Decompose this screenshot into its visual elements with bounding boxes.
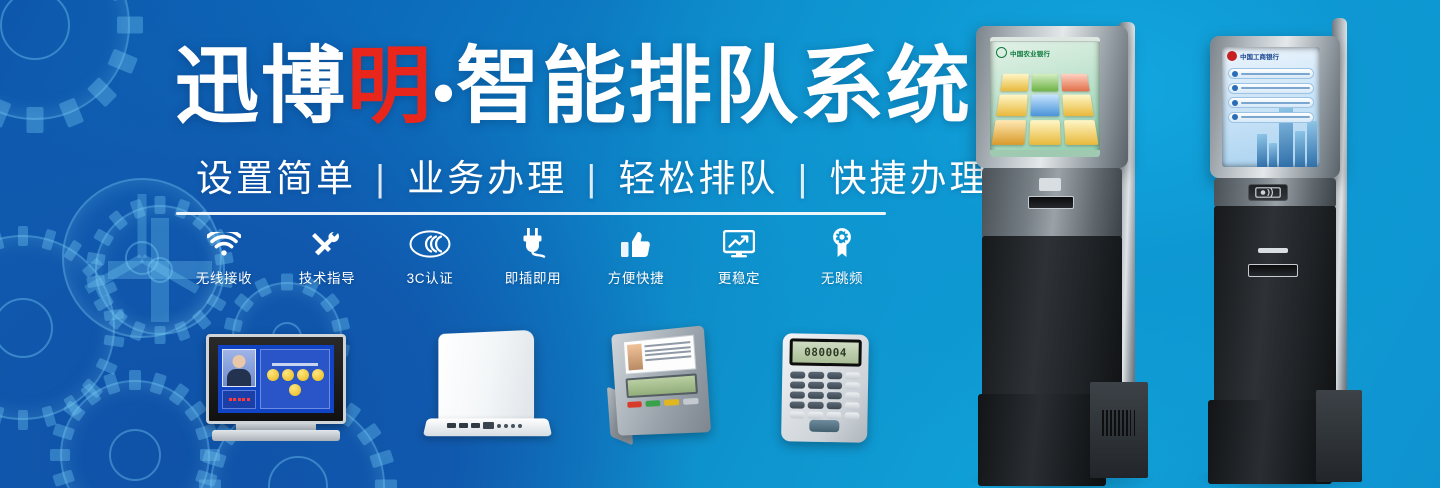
terminal-body: 080004 bbox=[781, 333, 869, 442]
bank-logo-mark bbox=[996, 47, 1007, 58]
product-evaluation-monitor bbox=[206, 334, 346, 442]
page-title: 迅博明•智能排队系统 bbox=[175, 44, 905, 128]
host-panel bbox=[438, 330, 534, 426]
subtitle-item-0: 设置简单 bbox=[196, 158, 356, 199]
evaluator-lcd-display bbox=[626, 373, 698, 398]
service-tile-grid[interactable] bbox=[990, 70, 1100, 153]
monitor-chart-icon bbox=[723, 228, 755, 258]
staff-id-card bbox=[623, 335, 696, 375]
screen-rating-panel bbox=[260, 349, 330, 409]
ccc-mark-icon bbox=[409, 228, 451, 258]
kiosk-base bbox=[1208, 400, 1332, 484]
feature-item-ccc: 3C认证 bbox=[382, 228, 478, 287]
menu-item[interactable] bbox=[1228, 112, 1314, 123]
kiosk-screen-housing: 中国工商银行 bbox=[1210, 36, 1340, 178]
bank-logo-mark bbox=[1227, 51, 1237, 61]
menu-item[interactable] bbox=[1228, 97, 1314, 108]
page-subtitle: 设置简单 | 业务办理 | 轻松排队 | 快捷办理 bbox=[196, 148, 896, 202]
terminal-lcd-display: 080004 bbox=[792, 341, 858, 363]
power-plug-icon bbox=[519, 228, 547, 258]
feature-item-plugplay: 即插即用 bbox=[485, 228, 581, 287]
screen-left-column bbox=[222, 349, 256, 409]
feature-item-wireless: 无线接收 bbox=[176, 228, 272, 287]
feature-list: 无线接收 技术指导 3C认证 bbox=[176, 228, 890, 290]
bank-logo: 中国农业银行 bbox=[990, 42, 1100, 60]
subtitle-item-3: 快捷办理 bbox=[830, 158, 990, 199]
terminal-confirm-key[interactable] bbox=[809, 420, 839, 433]
smiley-rating-icons bbox=[264, 369, 326, 396]
staff-photo bbox=[627, 344, 643, 371]
kiosk-base bbox=[978, 394, 1106, 486]
subtitle-item-1: 业务办理 bbox=[407, 158, 567, 199]
bank-logo: 中国工商银行 bbox=[1222, 47, 1320, 63]
tools-icon bbox=[312, 228, 342, 258]
promo-banner: 迅博明•智能排队系统 设置简单 | 业务办理 | 轻松排队 | 快捷办理 无线接… bbox=[0, 0, 1440, 488]
printer-icon bbox=[1039, 178, 1061, 191]
ticket-dispenser-slot[interactable] bbox=[1028, 196, 1074, 209]
card-slot[interactable] bbox=[1258, 248, 1288, 253]
staff-name-plate bbox=[222, 390, 256, 409]
feature-item-convenient: 方便快捷 bbox=[588, 228, 684, 287]
feature-item-nohop: 无跳频 bbox=[794, 228, 890, 287]
feature-label: 技术指导 bbox=[299, 267, 355, 287]
kiosk-upper-body bbox=[982, 168, 1122, 240]
gear-icon bbox=[60, 380, 210, 488]
feature-item-support: 技术指导 bbox=[279, 228, 375, 287]
staff-photo bbox=[222, 349, 256, 387]
gear-icon bbox=[0, 0, 130, 120]
title-part-1: 迅博 bbox=[175, 39, 347, 133]
kiosk-side-cabinet bbox=[1090, 382, 1148, 478]
rating-prompt bbox=[272, 363, 318, 366]
thumbs-up-icon bbox=[621, 228, 651, 258]
evaluator-button-row bbox=[627, 398, 699, 408]
menu-item[interactable] bbox=[1228, 68, 1314, 79]
feature-item-stable: 更稳定 bbox=[691, 228, 787, 287]
wifi-icon bbox=[207, 228, 241, 258]
kiosk-screen-housing: 中国农业银行 bbox=[976, 26, 1128, 168]
feature-label: 3C认证 bbox=[407, 267, 454, 287]
ticket-dispenser-slot[interactable] bbox=[1248, 264, 1298, 277]
terminal-keypad[interactable] bbox=[789, 371, 860, 419]
terminal-lcd-value: 080004 bbox=[804, 346, 847, 360]
ventilation-grille bbox=[1102, 410, 1138, 436]
section-divider bbox=[176, 212, 886, 215]
host-port-row bbox=[447, 422, 522, 429]
evaluator-body bbox=[611, 325, 711, 435]
ribbon-award-icon bbox=[830, 228, 854, 258]
title-dot: • bbox=[433, 59, 456, 126]
product-keypad-terminal: 080004 bbox=[781, 333, 869, 442]
title-highlight: 明 bbox=[347, 39, 433, 133]
feature-label: 方便快捷 bbox=[608, 267, 664, 287]
queue-kiosk-agricultural-bank: 中国农业银行 bbox=[972, 22, 1148, 488]
subtitle-separator: | bbox=[369, 158, 394, 199]
service-menu[interactable] bbox=[1222, 63, 1320, 128]
menu-item[interactable] bbox=[1228, 83, 1314, 94]
title-part-2: 智能排队系统 bbox=[456, 39, 972, 133]
feature-label: 无线接收 bbox=[196, 267, 252, 287]
feature-label: 更稳定 bbox=[718, 267, 760, 287]
subtitle-separator: | bbox=[792, 158, 817, 199]
staff-info-lines bbox=[644, 339, 692, 369]
kiosk-touchscreen[interactable]: 中国农业银行 bbox=[990, 37, 1100, 157]
feature-label: 无跳频 bbox=[821, 267, 863, 287]
monitor-base bbox=[212, 430, 340, 441]
monitor-bezel bbox=[206, 334, 346, 424]
feature-label: 即插即用 bbox=[505, 267, 561, 287]
gear-icon bbox=[0, 235, 115, 420]
terminal-lcd-bezel: 080004 bbox=[789, 338, 861, 366]
kiosk-lower-body bbox=[982, 236, 1122, 402]
kiosk-lower-body bbox=[1214, 206, 1336, 406]
rfid-reader-icon[interactable] bbox=[1248, 184, 1288, 201]
queue-kiosk-icbc: 中国工商银行 bbox=[1196, 18, 1362, 488]
subtitle-separator: | bbox=[580, 158, 605, 199]
bank-name: 中国工商银行 bbox=[1240, 51, 1279, 61]
product-desktop-evaluator bbox=[603, 326, 719, 445]
monitor-screen bbox=[218, 345, 334, 413]
subtitle-item-2: 轻松排队 bbox=[618, 158, 778, 199]
kiosk-reader-panel bbox=[1214, 178, 1336, 208]
product-host-unit bbox=[425, 332, 550, 442]
bank-name: 中国农业银行 bbox=[1010, 48, 1050, 58]
rating-stars bbox=[229, 398, 250, 401]
kiosk-touchscreen[interactable]: 中国工商银行 bbox=[1222, 47, 1320, 167]
kiosk-side-cabinet bbox=[1316, 390, 1362, 482]
